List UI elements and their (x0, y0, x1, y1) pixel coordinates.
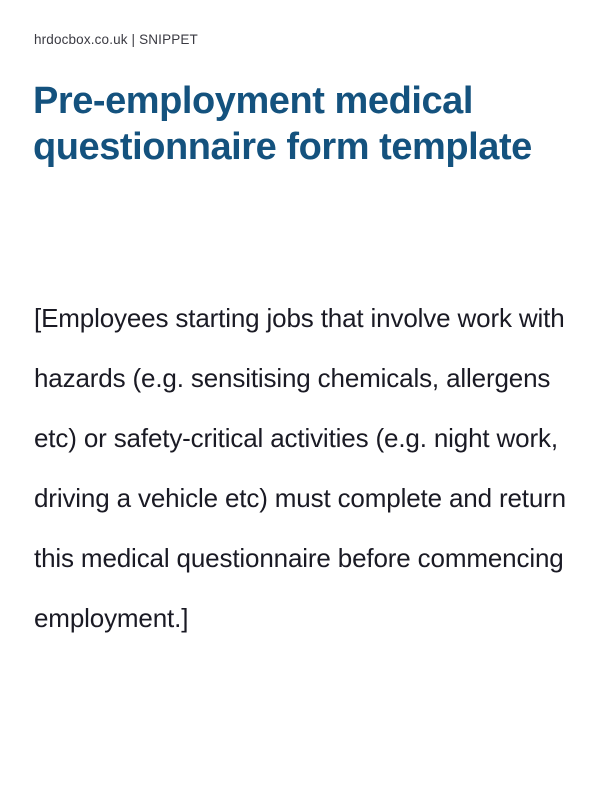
page-title: Pre-employment medical questionnaire for… (33, 78, 543, 170)
intro-paragraph: [Employees starting jobs that involve wo… (34, 288, 579, 648)
source-attribution: hrdocbox.co.uk | SNIPPET (34, 31, 198, 49)
document-page: hrdocbox.co.uk | SNIPPET Pre-employment … (0, 0, 600, 800)
